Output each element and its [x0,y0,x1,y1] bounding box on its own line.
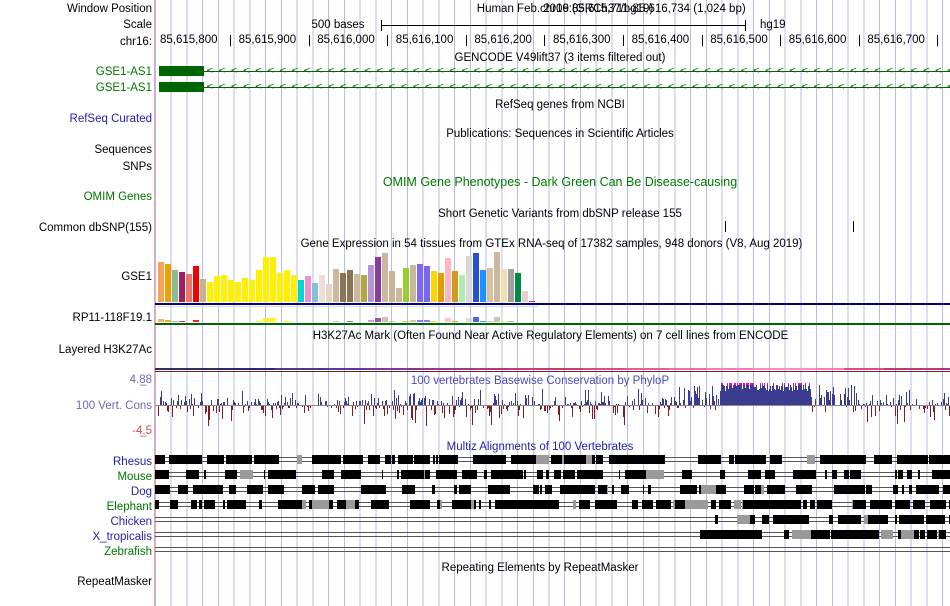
phylop-negative-bar [930,406,931,417]
gtex-tissue-bar[interactable] [431,271,437,302]
multiz-align-block [715,515,718,524]
label-gse1[interactable]: GSE1 [2,271,152,283]
gtex-tissue-bar[interactable] [515,273,521,302]
multiz-align-block [810,500,815,509]
multiz-align-block [907,470,912,479]
phylop-positive-bar [515,393,516,405]
rp11-tissue-bar[interactable] [480,321,486,322]
gtex-tissue-bar[interactable] [459,275,465,302]
phylop-negative-bar [562,406,563,408]
label-chrom: chr16: [2,36,152,48]
phylop-positive-bar [941,402,942,405]
label-refseq-curated[interactable]: RefSeq Curated [2,113,152,125]
phylop-negative-bar [412,406,413,420]
phylop-axis-min: -4.5 [2,425,152,437]
phylop-positive-bar [166,403,167,405]
phylop-negative-bar [685,406,686,408]
multiz-align-block [313,455,323,464]
phylop-positive-bar [406,403,407,405]
multiz-align-block [761,485,764,494]
ruler-tick-mark [780,35,781,46]
gtex-tissue-bar[interactable] [298,280,304,302]
rp11-tissue-bar[interactable] [256,321,262,322]
phylop-positive-bar [595,401,596,405]
phylop-negative-bar [655,406,656,414]
multiz-align-block [155,500,159,509]
phylop-negative-bar [216,406,217,413]
gtex-tissue-bar[interactable] [326,284,332,302]
phylop-positive-bar [588,390,589,405]
gtex-tissue-bar[interactable] [200,279,206,302]
gtex-tissue-bar[interactable] [179,272,185,302]
phylop-positive-bar [528,395,529,405]
phylop-negative-bar [900,406,901,410]
multiz-align-block [624,485,629,494]
phylop-negative-bar [369,406,370,410]
multiz-align-block [537,470,543,479]
gtex-tissue-bar[interactable] [389,271,395,302]
phylop-negative-bar [340,406,341,414]
phylop-negative-bar [589,406,590,413]
multiz-align-block [533,485,539,494]
phylop-positive-bar [881,403,882,405]
ruler-tick-mark [859,35,860,46]
gtex-tissue-bar[interactable] [529,301,535,302]
phylop-negative-bar [846,406,847,407]
gtex-tissue-bar[interactable] [235,282,241,302]
phylop-positive-bar [680,403,681,405]
rp11-tissue-bar[interactable] [424,320,430,322]
label-common-dbsnp[interactable]: Common dbSNP(155) [2,222,152,234]
gtex-tissue-bar[interactable] [410,265,416,302]
dbsnp-variant-tick[interactable] [725,221,726,232]
gtex-tissue-bar[interactable] [284,270,290,302]
phylop-positive-bar [374,398,375,405]
label-species-zebrafish[interactable]: Zebrafish [2,546,152,558]
phylop-negative-bar [357,406,358,407]
gtex-tissue-bar[interactable] [445,258,451,302]
multiz-row-rhesus[interactable] [155,455,950,464]
multiz-align-block [329,500,333,509]
phylop-positive-bar [462,392,463,405]
phylop-negative-bar [263,406,264,413]
phylop-negative-bar [552,406,553,407]
label-species-dog[interactable]: Dog [2,486,152,498]
multiz-align-block [675,500,685,509]
gtex-tissue-bar[interactable] [501,269,507,302]
gene-strand-arrows-2: <<<<<<<<<<<<<<<<<<<<<<<<<<<<<<<<<<<<<<<<… [206,83,950,92]
rp11-tissue-bar[interactable] [508,321,514,322]
phylop-negative-bar [895,406,896,416]
multiz-align-block [488,455,506,464]
phylop-negative-bar [276,406,277,409]
gtex-bar-chart[interactable] [158,252,538,302]
multiz-align-block [312,500,329,509]
rp11-tissue-bar[interactable] [494,317,500,322]
phylop-positive-bar [856,393,857,405]
multiz-align-block [760,500,773,509]
phylop-positive-bar [625,402,626,405]
gtex-tissue-bar[interactable] [480,270,486,302]
multiz-alignment-rows[interactable] [155,455,950,555]
label-species-x-tropicalis[interactable]: X_tropicalis [2,531,152,543]
phylop-negative-bar [373,406,374,416]
multiz-align-block [475,455,488,464]
rp11-tissue-bar[interactable] [284,321,290,322]
multiz-align-block [701,485,716,494]
multiz-row-x-tropicalis[interactable] [155,530,950,539]
phylop-clipped-marker [788,383,789,385]
multiz-align-block [588,500,590,509]
multiz-row-chicken[interactable] [155,515,950,524]
phylop-positive-bar [371,394,372,405]
phylop-positive-bar [532,397,533,405]
label-layered-h3k27ac[interactable]: Layered H3K27Ac [2,344,152,356]
gtex-tissue-bar[interactable] [340,273,346,302]
conservation-strip-segment [326,368,367,370]
rp11-tissue-bar[interactable] [473,317,479,322]
multiz-align-block [377,500,389,509]
phylop-negative-bar [444,406,445,418]
gtex-tissue-bar[interactable] [354,274,360,302]
phylop-positive-bar [834,395,835,405]
rp11-tissue-bar[interactable] [193,320,199,322]
phylop-negative-bar [180,406,181,409]
rp11-tissue-bar[interactable] [466,318,472,322]
multiz-align-block [577,470,585,479]
phylop-positive-bar [555,397,556,405]
multiz-center-title: Multiz Alignments of 100 Vertebrates [390,441,690,453]
phylop-negative-bar [327,406,328,407]
gtex-tissue-bar[interactable] [158,262,164,302]
multiz-align-block [433,455,435,464]
phylop-negative-bar [393,406,394,410]
multiz-align-block [866,485,872,494]
phylop-positive-bar [909,390,910,405]
label-snps[interactable]: SNPs [2,161,152,173]
gtex-tissue-bar[interactable] [375,257,381,302]
multiz-align-block [897,455,923,464]
multiz-align-block [240,470,253,479]
multiz-align-block [611,500,617,509]
rp11-tissue-bar[interactable] [375,318,381,322]
rp11-tissue-bar[interactable] [270,318,276,322]
phylop-positive-bar [181,400,182,405]
phylop-negative-bar [455,406,456,410]
gtex-tissue-bar[interactable] [466,256,472,302]
multiz-align-block [868,515,875,524]
multiz-row-zebrafish[interactable] [155,545,950,554]
gtex-tissue-bar[interactable] [333,269,339,302]
phylop-positive-bar [916,399,917,405]
phylop-negative-bar [416,406,417,410]
multiz-align-block [875,515,882,524]
multiz-align-block [439,455,451,464]
rp11-tissue-bar[interactable] [452,321,458,322]
gtex-tissue-bar[interactable] [473,253,479,302]
phylop-negative-bar [379,406,380,408]
conservation-strip-segment [367,368,420,370]
multiz-align-block [895,515,897,524]
gtex-tissue-bar[interactable] [186,274,192,302]
gtex-tissue-bar[interactable] [312,283,318,302]
gtex-tissue-bar[interactable] [438,273,444,302]
phylop-negative-bar [904,406,905,422]
phylop-negative-bar [501,406,502,414]
multiz-align-block [440,500,442,509]
phylop-positive-bar [616,404,617,405]
gtex-tissue-bar[interactable] [424,266,430,302]
multiz-align-block [854,470,861,479]
phylop-negative-bar [867,406,868,422]
multiz-align-block [648,485,651,494]
gtex-tissue-bar[interactable] [319,275,325,302]
gene-exon-2[interactable] [159,82,204,92]
multiz-align-block [909,485,912,494]
phylop-negative-bar [401,406,402,407]
phylop-positive-bar [511,401,512,405]
multiz-align-block [163,485,170,494]
label-100-vert-cons[interactable]: 100 Vert. Cons [2,400,152,412]
multiz-align-block [286,500,302,509]
phylop-conservation-plot[interactable] [155,383,950,435]
phylop-positive-bar [218,399,219,405]
phylop-positive-bar [227,398,228,405]
ruler-tick-label: 85,616,000 [317,34,375,46]
gtex-tissue-bar[interactable] [242,278,248,302]
rp11-tissue-bar[interactable] [382,317,388,322]
gtex-tissue-bar[interactable] [214,276,220,302]
label-species-mouse[interactable]: Mouse [2,471,152,483]
phylop-positive-bar [456,400,457,405]
rp11-tissue-bar[interactable] [347,321,353,322]
rp11-tissue-bar[interactable] [263,318,269,322]
phylop-positive-bar [896,404,897,405]
gtex-tissue-bar[interactable] [207,282,213,302]
multiz-align-block [193,485,201,494]
multiz-align-block [765,470,775,479]
phylop-negative-bar [855,406,856,411]
multiz-align-block [744,485,754,494]
multiz-align-block [592,455,595,464]
rp11-tissue-bar[interactable] [165,320,171,322]
dbsnp-variant-tick[interactable] [853,221,854,232]
multiz-align-block [903,500,910,509]
gtex-tissue-bar[interactable] [263,257,269,302]
ruler-tick-label: 85,616,500 [710,34,768,46]
multiz-align-block [521,470,523,479]
multiz-align-block [729,455,734,464]
phylop-positive-bar [348,397,349,405]
gtex-tissue-bar[interactable] [305,276,311,302]
rp11-tissue-bar[interactable] [179,321,185,322]
rp11-tissue-bar[interactable] [417,320,423,322]
gtex-tissue-bar[interactable] [193,266,199,302]
phylop-negative-bar [582,406,583,407]
phylop-positive-bar [425,396,426,405]
gtex-tissue-bar[interactable] [382,253,388,302]
ruler-tick-mark [309,35,310,46]
multiz-align-block [642,500,653,509]
label-species-elephant[interactable]: Elephant [2,501,152,513]
label-scale: Scale [2,19,152,31]
multiz-align-block [382,470,383,479]
phylop-negative-bar [472,406,473,425]
phylop-negative-bar [934,406,935,420]
multiz-align-block [657,500,669,509]
multiz-align-block [341,470,358,479]
phylop-negative-bar [910,406,911,410]
phylop-negative-bar [187,406,188,412]
phylop-negative-bar [176,406,177,408]
phylop-clipped-marker [731,383,732,385]
multiz-align-block [939,515,945,524]
label-sequences[interactable]: Sequences [2,144,152,156]
multiz-align-block [607,485,608,494]
rp11-tissue-bar[interactable] [410,320,416,322]
phylop-positive-bar [443,403,444,405]
phylop-negative-bar [704,406,705,407]
gene-exon-1[interactable] [159,66,204,76]
multiz-align-block [621,455,634,464]
gencode-center-title: GENCODE V49lift37 (3 items filtered out) [430,52,690,64]
rp11-tissue-bar[interactable] [333,321,339,322]
multiz-align-block [706,530,727,539]
gtex-tissue-bar[interactable] [347,270,353,302]
conservation-strip-segment [939,368,950,370]
gtex-tissue-bar[interactable] [396,288,402,302]
rp11-tissue-bar[interactable] [368,320,374,322]
phylop-positive-bar [870,401,871,405]
multiz-row-mouse[interactable] [155,470,950,479]
multiz-row-dog[interactable] [155,485,950,494]
gtex-tissue-bar[interactable] [452,271,458,302]
phylop-positive-bar [872,395,873,405]
phylop-negative-bar [296,406,297,408]
scale-bar-right-cap [745,20,746,31]
multiz-align-block [358,470,361,479]
phylop-positive-bar [890,402,891,405]
label-gse1-as1-1[interactable]: GSE1-AS1 [2,66,152,78]
phylop-positive-bar [851,385,852,405]
gtex-tissue-bar[interactable] [368,265,374,302]
label-rp11-118f19-1[interactable]: RP11-118F19.1 [2,312,152,324]
gtex-tissue-bar[interactable] [508,269,514,302]
phylop-positive-bar [318,394,319,405]
rp11-tissue-bar[interactable] [158,319,164,322]
phylop-positive-bar [937,403,938,405]
phylop-negative-bar [172,406,173,417]
ruler-tick-mark [937,35,938,46]
gtex-tissue-bar[interactable] [249,280,255,302]
conservation-strip-segment [275,368,326,370]
phylop-positive-bar [849,400,850,405]
phylop-positive-bar [944,393,945,405]
phylop-positive-bar [570,403,571,405]
rp11-bar-chart[interactable] [158,308,538,322]
phylop-positive-bar [841,400,842,405]
multiz-align-block [403,455,411,464]
multiz-align-block [492,485,510,494]
multiz-align-block [913,500,920,509]
multiz-align-block [521,455,529,464]
phylop-positive-bar [718,399,719,405]
phylop-negative-bar [331,406,332,408]
phylop-negative-bar [376,406,377,409]
phylop-positive-bar [591,404,592,405]
rp11-tissue-bar[interactable] [445,318,451,322]
rp11-tissue-bar[interactable] [501,321,507,322]
multiz-align-block [226,455,247,464]
phylop-positive-bar [260,403,261,405]
rp11-tissue-bar[interactable] [389,321,395,322]
h3k27ac-center-title: H3K27Ac Mark (Often Found Near Active Re… [278,330,823,342]
multiz-align-block [524,470,526,479]
phylop-negative-bar [633,406,634,410]
gtex-tissue-bar[interactable] [494,252,500,302]
gtex-tissue-bar[interactable] [165,264,171,302]
multiz-align-block [914,530,919,539]
phylop-positive-bar [652,403,653,405]
multiz-align-block [685,500,708,509]
multiz-row-elephant[interactable] [155,500,950,509]
multiz-align-block [229,485,236,494]
gtex-tissue-bar[interactable] [270,257,276,302]
rp11-tissue-bar[interactable] [403,321,409,322]
label-species-rhesus[interactable]: Rhesus [2,456,152,468]
gtex-tissue-bar[interactable] [487,268,493,302]
phylop-negative-bar [613,406,614,413]
gtex-tissue-bar[interactable] [291,275,297,302]
multiz-align-block [272,455,279,464]
gtex-tissue-bar[interactable] [256,270,262,302]
phylop-positive-bar [929,402,930,405]
gtex-tissue-bar[interactable] [221,275,227,302]
phylop-negative-bar [222,406,223,419]
gtex-tissue-bar[interactable] [417,264,423,302]
rp11-tissue-bar[interactable] [172,321,178,322]
rp11-tissue-bar[interactable] [487,321,493,322]
gtex-tissue-bar[interactable] [277,273,283,302]
label-omim-genes[interactable]: OMIM Genes [2,191,152,203]
multiz-align-block [785,500,801,509]
gtex-tissue-bar[interactable] [522,291,528,302]
phylop-clipped-marker [735,383,736,385]
multiz-align-block [598,485,607,494]
gtex-tissue-bar[interactable] [361,275,367,302]
label-repeatmasker[interactable]: RepeatMasker [2,576,152,588]
phylop-negative-bar [669,406,670,410]
phylop-negative-bar [209,406,210,420]
phylop-positive-bar [368,401,369,405]
phylop-positive-bar [709,394,710,405]
multiz-align-block [895,500,903,509]
phylop-negative-bar [283,406,284,407]
phylop-positive-bar [178,395,179,405]
multiz-align-block [201,485,223,494]
gtex-tissue-bar[interactable] [403,268,409,302]
phylop-positive-bar [948,397,949,405]
multiz-align-block [318,485,328,494]
phylop-negative-bar [243,406,244,413]
label-gse1-as1-2[interactable]: GSE1-AS1 [2,82,152,94]
label-species-chicken[interactable]: Chicken [2,516,152,528]
gtex-tissue-bar[interactable] [172,270,178,302]
phylop-negative-bar [865,406,866,407]
rp11-tissue-bar[interactable] [431,321,437,322]
ruler-tick-mark [623,35,624,46]
gtex-tissue-bar[interactable] [228,280,234,302]
